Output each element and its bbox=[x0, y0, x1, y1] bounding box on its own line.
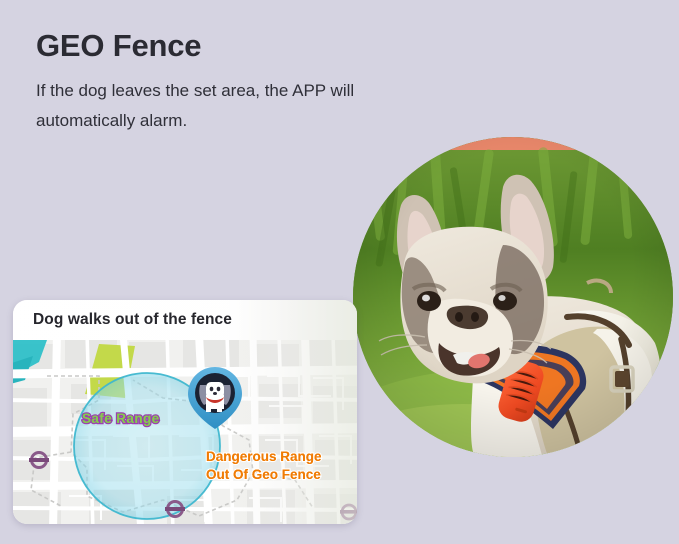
dog-photo-circle bbox=[353, 137, 673, 457]
safe-range-label: Safe Range Safe Range bbox=[82, 411, 160, 426]
danger-line-2-fill: Out Of Geo Fence bbox=[206, 466, 322, 484]
safe-range-text-fill: Safe Range bbox=[82, 411, 160, 426]
danger-text-fill: Dangerous Range Out Of Geo Fence bbox=[206, 448, 322, 484]
map-viewport[interactable] bbox=[13, 340, 357, 524]
map-notification-card: Dog walks out of the fence bbox=[13, 300, 357, 524]
heading-block: GEO Fence If the dog leaves the set area… bbox=[36, 26, 436, 136]
danger-range-label: Dangerous Range Out Of Geo Fence Dangero… bbox=[206, 448, 322, 484]
map-card-header: Dog walks out of the fence bbox=[13, 300, 357, 340]
geo-fence-promo-page: GEO Fence If the dog leaves the set area… bbox=[0, 0, 679, 544]
dog-map-pin-icon[interactable] bbox=[186, 365, 244, 431]
dog-photo-illustration bbox=[353, 137, 673, 457]
page-subtitle: If the dog leaves the set area, the APP … bbox=[36, 76, 416, 136]
map-card-title: Dog walks out of the fence bbox=[33, 311, 232, 329]
danger-line-1-fill: Dangerous Range bbox=[206, 448, 322, 466]
street-map-illustration bbox=[13, 340, 357, 524]
page-title: GEO Fence bbox=[36, 26, 436, 66]
